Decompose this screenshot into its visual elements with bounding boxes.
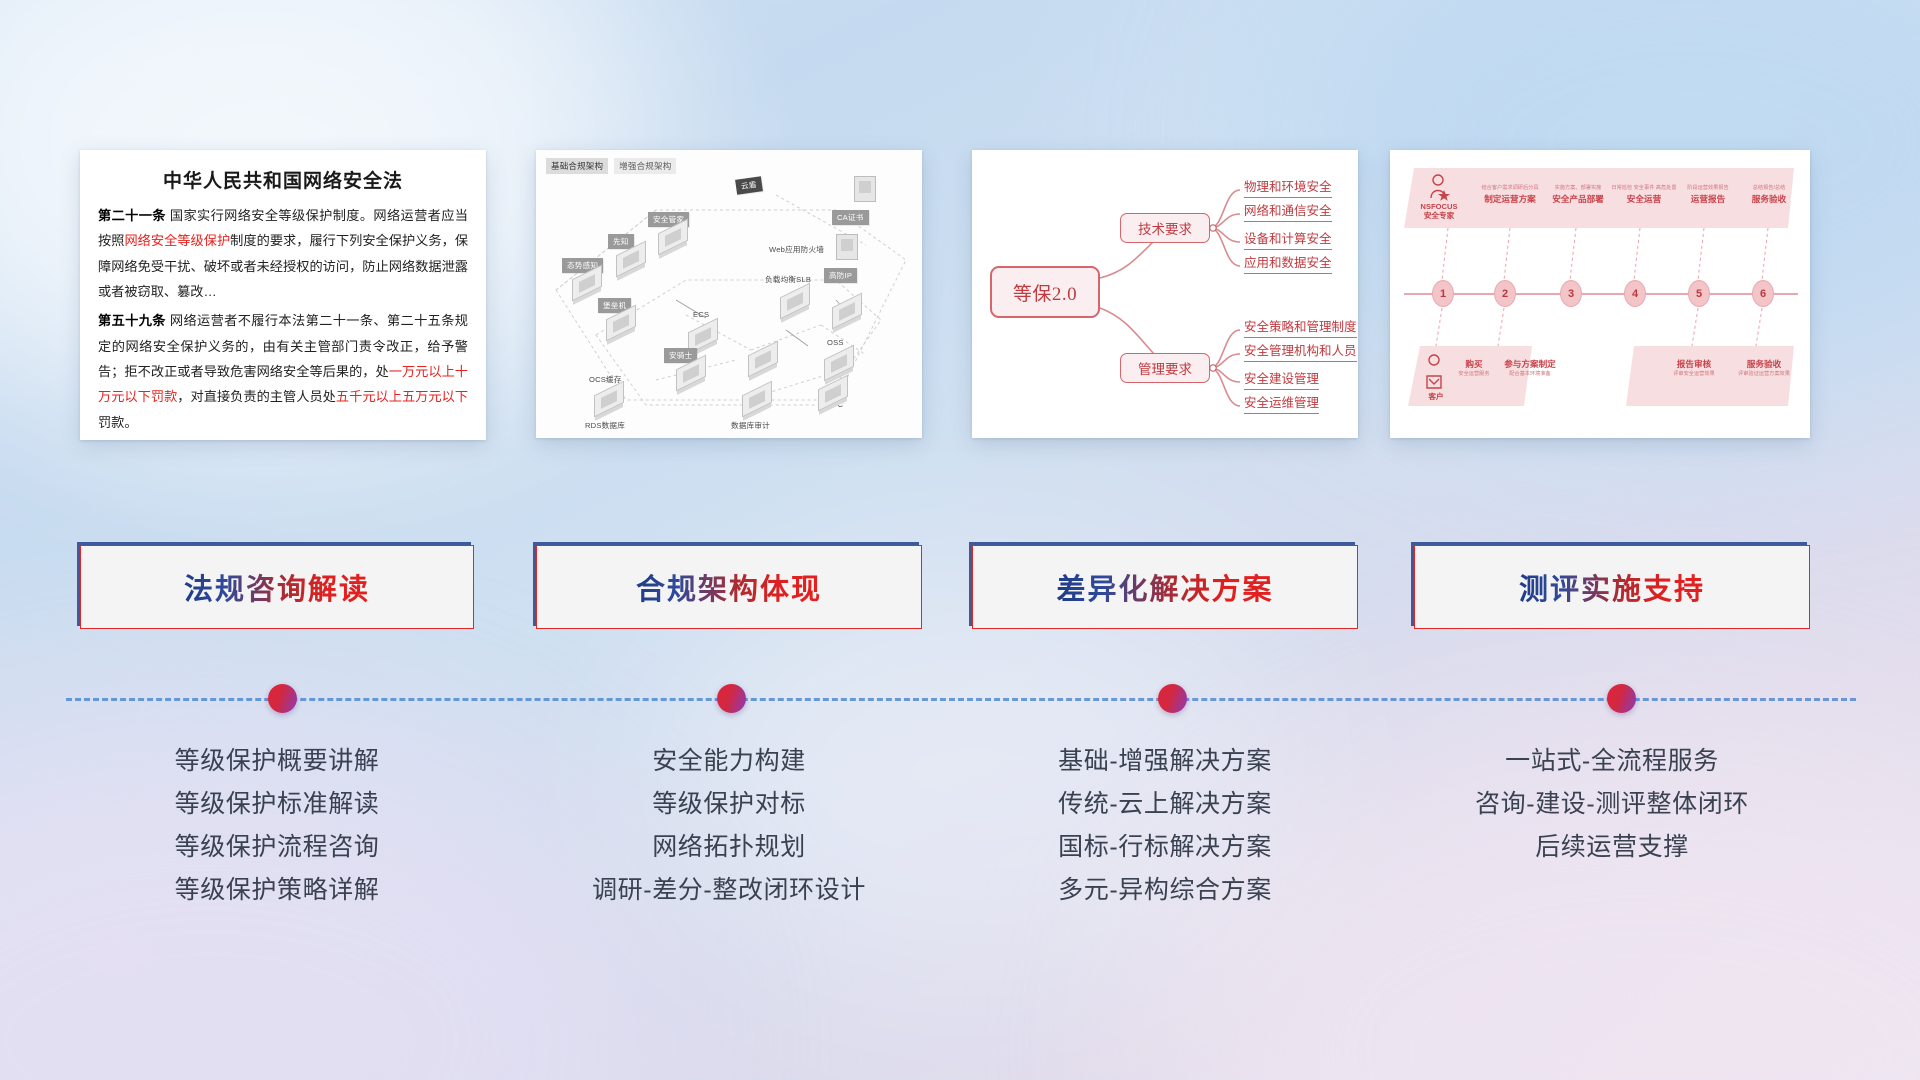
- nsfocus-bottom-step-2: 参与方案制定 配合基本环境准备: [1494, 358, 1566, 379]
- timeline-dot-3[interactable]: [1158, 684, 1187, 713]
- nsfocus-top-step-4-sub: 阶段运营效果报告: [1672, 184, 1744, 191]
- nsfocus-bottom-step-4-title: 服务验收: [1728, 358, 1800, 370]
- mindmap-leaf-device-compute: 设备和计算安全: [1244, 228, 1332, 250]
- nsfocus-top-step-4-title: 运营报告: [1672, 193, 1744, 205]
- nsfocus-customer-role: 客户: [1414, 392, 1458, 401]
- mindmap-leaf-policy-system: 安全策略和管理制度: [1244, 316, 1357, 338]
- nsfocus-bottom-step-3-title: 报告审核: [1658, 358, 1730, 370]
- list-item: 咨询-建设-测评整体闭环: [1414, 783, 1810, 826]
- nsfocus-step-number-1: 1: [1432, 280, 1454, 307]
- mindmap-leaf-physical-env: 物理和环境安全: [1244, 176, 1332, 198]
- nsfocus-step-number-2: 2: [1494, 280, 1516, 307]
- arch-node-label-rds-db: RDS数据库: [580, 418, 630, 433]
- mindmap-leaf-ops-mgmt: 安全运维管理: [1244, 392, 1319, 414]
- mindmap-branch-technical: 技术要求: [1120, 213, 1210, 243]
- nsfocus-bottom-step-3-sub: 评审安全运营效果: [1658, 370, 1730, 377]
- nsfocus-timeline: NSFOCUS 安全专家 客户 结合客户需求调研后分具 制定运营方案 实施方案、…: [1390, 150, 1810, 438]
- nsfocus-top-step-4: 阶段运营效果报告 运营报告: [1672, 184, 1744, 205]
- nsfocus-top-step-2-title: 安全产品部署: [1542, 193, 1614, 205]
- nsfocus-expert-role: NSFOCUS 安全专家: [1410, 202, 1468, 221]
- detail-list-regulation: 等级保护概要讲解 等级保护标准解读 等级保护流程咨询 等级保护策略详解: [80, 740, 474, 912]
- list-item: 等级保护概要讲解: [80, 740, 474, 783]
- nsfocus-top-step-3: 日常巡检 安全事件 高危处置 安全运营: [1608, 184, 1680, 205]
- detail-lists-row: 等级保护概要讲解 等级保护标准解读 等级保护流程咨询 等级保护策略详解 安全能力…: [0, 740, 1920, 960]
- nsfocus-step-number-3: 3: [1560, 280, 1582, 307]
- arch-node-label-oss: OSS: [822, 336, 849, 349]
- pill-differentiated-solution-label: 差异化解决方案: [1056, 566, 1273, 608]
- list-item: 多元-异构综合方案: [972, 869, 1358, 912]
- timeline-dot-1[interactable]: [268, 684, 297, 713]
- pill-compliance-architecture-label: 合规架构体现: [636, 566, 822, 608]
- nsfocus-top-step-1: 结合客户需求调研后分具 制定运营方案: [1474, 184, 1546, 205]
- article-21-label: 第二十一条: [98, 208, 166, 223]
- nsfocus-step-number-4: 4: [1624, 280, 1646, 307]
- pill-headings-row: 法规咨询解读 合规架构体现 差异化解决方案 测评实施支持: [0, 545, 1920, 635]
- nsfocus-top-step-3-sub: 日常巡检 安全事件 高危处置: [1608, 184, 1680, 191]
- pill-assessment-support[interactable]: 测评实施支持: [1414, 545, 1810, 629]
- article-59-label: 第五十九条: [98, 313, 166, 328]
- timeline-dashed-line: [66, 698, 1856, 701]
- list-item: 等级保护流程咨询: [80, 826, 474, 869]
- card-cybersecurity-law: 中华人民共和国网络安全法 第二十一条 国家实行网络安全等级保护制度。网络运营者应…: [80, 150, 486, 440]
- pill-regulation-consulting-label: 法规咨询解读: [184, 566, 370, 608]
- list-item: 国标-行标解决方案: [972, 826, 1358, 869]
- nsfocus-top-step-2: 实施方案、部署实施 安全产品部署: [1542, 184, 1614, 205]
- nsfocus-top-step-5-sub: 总结报告/总结: [1736, 184, 1802, 191]
- timeline-dot-2[interactable]: [717, 684, 746, 713]
- article-59-text-b: ，对直接负责的主管人员处: [177, 389, 336, 404]
- pill-compliance-architecture[interactable]: 合规架构体现: [536, 545, 922, 629]
- list-item: 调研-差分-整改闭环设计: [536, 869, 922, 912]
- arch-node-label-anti-ddos: 高防IP: [824, 268, 857, 283]
- mindmap-leaf-org-personnel: 安全管理机构和人员: [1244, 340, 1357, 362]
- list-item: 网络拓扑规划: [536, 826, 922, 869]
- article-59-highlight-b: 五千元以上五万元以下: [336, 389, 468, 404]
- nsfocus-top-step-5: 总结报告/总结 服务验收: [1736, 184, 1802, 205]
- mindmap-root-node: 等保2.0: [990, 266, 1100, 318]
- article-59-text-c: 罚款。: [98, 415, 138, 430]
- architecture-diagram: 基础合规架构 增强合规架构: [536, 150, 922, 438]
- nsfocus-bottom-step-1-title: 购买: [1452, 358, 1496, 370]
- nsfocus-step-number-5: 5: [1688, 280, 1710, 307]
- nsfocus-bottom-step-1-sub: 安全运营服务: [1452, 370, 1496, 377]
- article-21-highlight: 网络安全等级保护: [124, 233, 230, 248]
- nsfocus-step-number-6: 6: [1752, 280, 1774, 307]
- detail-list-solution: 基础-增强解决方案 传统-云上解决方案 国标-行标解决方案 多元-异构综合方案: [972, 740, 1358, 912]
- nsfocus-bottom-step-3: 报告审核 评审安全运营效果: [1658, 358, 1730, 379]
- nsfocus-bottom-step-4-sub: 评审验证运营方案效果: [1728, 370, 1800, 377]
- nsfocus-top-step-1-title: 制定运营方案: [1474, 193, 1546, 205]
- list-item: 传统-云上解决方案: [972, 783, 1358, 826]
- detail-list-assessment: 一站式-全流程服务 咨询-建设-测评整体闭环 后续运营支撑: [1414, 740, 1810, 869]
- pill-regulation-consulting[interactable]: 法规咨询解读: [80, 545, 474, 629]
- timeline-axis: [66, 697, 1856, 701]
- card-compliance-architecture: 基础合规架构 增强合规架构: [536, 150, 922, 438]
- law-article-59: 第五十九条 网络运营者不履行本法第二十一条、第二十五条规定的网络安全保护义务的，…: [98, 308, 468, 435]
- law-title: 中华人民共和国网络安全法: [98, 166, 468, 193]
- list-item: 基础-增强解决方案: [972, 740, 1358, 783]
- arch-node-label-db-audit: 数据库审计: [726, 418, 775, 433]
- mindmap-leaf-app-data: 应用和数据安全: [1244, 252, 1332, 274]
- card-nsfocus-service-timeline: NSFOCUS 安全专家 客户 结合客户需求调研后分具 制定运营方案 实施方案、…: [1390, 150, 1810, 438]
- nsfocus-bottom-step-2-sub: 配合基本环境准备: [1494, 370, 1566, 377]
- pill-differentiated-solution[interactable]: 差异化解决方案: [972, 545, 1358, 629]
- timeline-dot-4[interactable]: [1607, 684, 1636, 713]
- list-item: 后续运营支撑: [1414, 826, 1810, 869]
- arch-node-label-xianzhi: 先知: [608, 234, 634, 249]
- nsfocus-bottom-step-4: 服务验收 评审验证运营方案效果: [1728, 358, 1800, 379]
- list-item: 安全能力构建: [536, 740, 922, 783]
- mindmap: 等保2.0 技术要求 物理和环境安全 网络和通信安全 设备和计算安全 应用和数据…: [972, 150, 1358, 438]
- list-item: 等级保护策略详解: [80, 869, 474, 912]
- nsfocus-top-step-5-title: 服务验收: [1736, 193, 1802, 205]
- nsfocus-bottom-step-1: 购买 安全运营服务: [1452, 358, 1496, 379]
- list-item: 等级保护标准解读: [80, 783, 474, 826]
- arch-node-label-ca-cert: CA证书: [832, 210, 869, 225]
- nsfocus-top-step-1-sub: 结合客户需求调研后分具: [1474, 184, 1546, 191]
- nsfocus-top-step-3-title: 安全运营: [1608, 193, 1680, 205]
- mindmap-leaf-network-comm: 网络和通信安全: [1244, 200, 1332, 222]
- pill-assessment-support-label: 测评实施支持: [1519, 566, 1705, 608]
- nsfocus-expert-sub: 安全专家: [1410, 211, 1468, 220]
- list-item: 一站式-全流程服务: [1414, 740, 1810, 783]
- nsfocus-top-step-2-sub: 实施方案、部署实施: [1542, 184, 1614, 191]
- list-item: 等级保护对标: [536, 783, 922, 826]
- reference-cards-row: 中华人民共和国网络安全法 第二十一条 国家实行网络安全等级保护制度。网络运营者应…: [0, 150, 1920, 445]
- detail-list-architecture: 安全能力构建 等级保护对标 网络拓扑规划 调研-差分-整改闭环设计: [536, 740, 922, 912]
- slide-stage: 中华人民共和国网络安全法 第二十一条 国家实行网络安全等级保护制度。网络运营者应…: [0, 0, 1920, 1080]
- arch-node-label-ecs: ECS: [688, 308, 714, 321]
- arch-node-label-waf: Web应用防火墙: [764, 242, 829, 257]
- card-dengbao-mindmap: 等保2.0 技术要求 物理和环境安全 网络和通信安全 设备和计算安全 应用和数据…: [972, 150, 1358, 438]
- mindmap-branch-management: 管理要求: [1120, 353, 1210, 383]
- nsfocus-bottom-step-2-title: 参与方案制定: [1494, 358, 1566, 370]
- mindmap-leaf-construction-mgmt: 安全建设管理: [1244, 368, 1319, 390]
- law-article-21: 第二十一条 国家实行网络安全等级保护制度。网络运营者应当按照网络安全等级保护制度…: [98, 203, 468, 304]
